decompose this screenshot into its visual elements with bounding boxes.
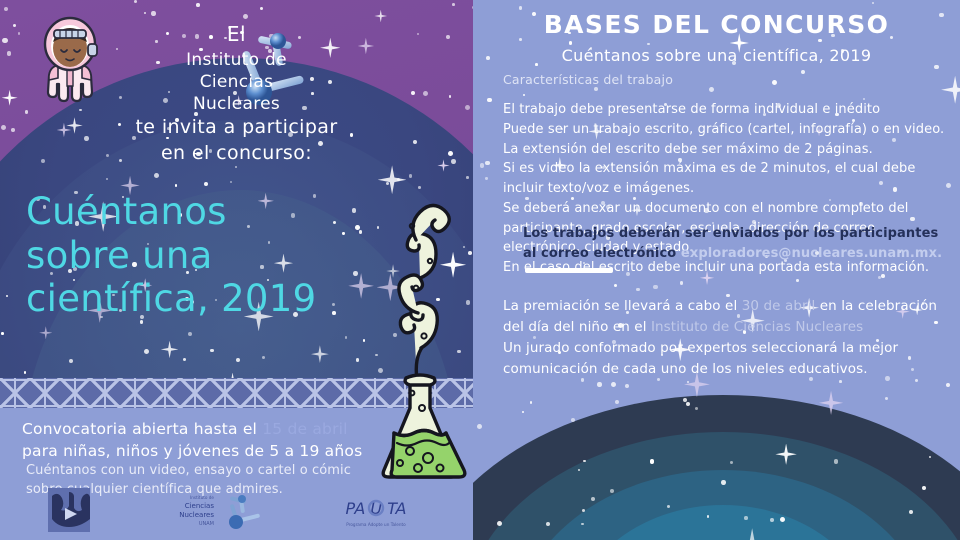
star-dot <box>4 7 8 11</box>
star-dot <box>614 284 618 288</box>
star-dot <box>485 177 487 179</box>
star-sparkle <box>374 10 387 23</box>
svg-text:Instituto de: Instituto de <box>190 495 214 500</box>
star-dot <box>144 349 149 354</box>
star-dot <box>591 497 595 501</box>
star-dot <box>834 459 838 463</box>
star-dot <box>594 87 598 91</box>
star-dot <box>707 515 709 517</box>
star-dot <box>134 0 137 3</box>
star-dot <box>582 509 585 512</box>
star-dot <box>929 456 931 458</box>
submission-instructions: Los trabajos deberán ser enviados por lo… <box>523 224 953 263</box>
star-dot <box>1 332 4 335</box>
star-dot <box>721 480 726 485</box>
award-institute: Instituto de Ciencias Nucleares <box>651 319 863 335</box>
star-dot <box>204 182 208 186</box>
pauta-logo: PA U TA Programa Adopte un Talento <box>330 492 422 532</box>
star-dot <box>615 400 619 404</box>
icn-logo: Instituto de Ciencias Nucleares UNAM <box>168 490 268 532</box>
star-dot <box>154 173 159 178</box>
poster-main-title: Cuéntanos sobre una científica, 2019 <box>26 190 366 321</box>
star-dot <box>151 11 155 15</box>
svg-text:Ciencias: Ciencias <box>185 502 215 510</box>
star-dot <box>915 379 918 382</box>
star-dot <box>477 424 482 429</box>
call-pre: Convocatoria abierta hasta el <box>22 420 262 438</box>
star-dot <box>522 411 524 413</box>
star-dot <box>480 163 484 167</box>
award-date: 30 de abril <box>742 298 816 314</box>
star-dot <box>946 383 950 387</box>
star-dot <box>487 98 492 103</box>
star-dot <box>183 358 186 361</box>
star-dot <box>452 3 455 6</box>
svg-text:UNAM: UNAM <box>199 521 214 527</box>
rule-item: La extensión del escrito debe ser máximo… <box>503 140 953 160</box>
award-information: La premiación se llevará a cabo el 30 de… <box>503 296 953 380</box>
star-dot <box>530 401 532 403</box>
rules-heading: BASES DEL CONCURSO <box>473 10 960 39</box>
rule-item: El trabajo debe presentarse de forma ind… <box>503 100 953 120</box>
star-dot <box>934 65 938 69</box>
star-dot <box>770 518 774 522</box>
star-dot <box>625 384 629 388</box>
svg-text:Nucleares: Nucleares <box>179 511 214 519</box>
award-paragraph: La premiación se llevará a cabo el 30 de… <box>503 296 953 338</box>
star-dot <box>519 6 523 10</box>
star-dot <box>243 14 248 19</box>
institute-name-text: Instituto de Ciencias Nucleares <box>0 50 473 115</box>
star-dot <box>744 516 748 520</box>
call-deadline: 15 de abril <box>262 420 347 438</box>
logo-row: Instituto de Ciencias Nucleares UNAM <box>0 486 473 534</box>
star-dot <box>24 371 27 374</box>
star-dot <box>611 382 616 387</box>
star-dot <box>260 7 263 10</box>
erlenmeyer-flask-illustration <box>360 168 473 498</box>
left-panel: El Instituto de Ciencias Nucleares te in… <box>0 0 473 540</box>
star-dot <box>188 332 192 336</box>
intro-el-text: El <box>0 22 473 46</box>
star-dot <box>485 161 489 165</box>
star-dot <box>687 381 689 383</box>
star-dot <box>872 2 874 4</box>
award-pre: La premiación se llevará a cabo el <box>503 298 742 314</box>
star-dot <box>175 184 177 186</box>
star-dot <box>210 349 214 353</box>
section-divider <box>525 268 613 273</box>
star-dot <box>885 397 889 401</box>
unam-logo <box>48 488 90 532</box>
star-dot <box>653 285 658 290</box>
star-dot <box>569 41 573 45</box>
star-dot <box>683 398 687 402</box>
star-dot <box>578 469 580 471</box>
call-for-entries-text: Convocatoria abierta hasta el 15 de abri… <box>22 418 372 462</box>
star-dot <box>597 382 601 386</box>
rule-item: Si es video la extensión máxima es de 2 … <box>503 159 953 199</box>
invitation-text: te invita a participar en el concurso: <box>0 115 473 166</box>
star-dot <box>144 12 147 15</box>
star-dot <box>581 523 584 526</box>
poster-canvas: El Instituto de Ciencias Nucleares te in… <box>0 0 960 540</box>
rules-section-label: Características del trabajo <box>503 72 943 87</box>
call-post: para niñas, niños y jóvenes de 5 a 19 añ… <box>22 442 362 460</box>
star-dot <box>636 288 639 291</box>
submission-email: exploradores@nucleares.unam.mx. <box>681 246 942 261</box>
star-dot <box>583 460 586 463</box>
star-dot <box>196 3 200 7</box>
star-dot <box>680 281 684 285</box>
star-dot <box>546 522 550 526</box>
star-dot <box>796 279 799 282</box>
star-dot <box>345 336 347 338</box>
star-dot <box>839 380 842 383</box>
jury-paragraph: Un jurado conformado por expertos selecc… <box>503 338 953 380</box>
svg-text:Programa Adopte un Talento: Programa Adopte un Talento <box>346 522 406 527</box>
star-dot <box>523 94 525 96</box>
star-dot <box>709 87 714 92</box>
rules-subheading: Cuéntanos sobre una científica, 2019 <box>473 46 960 65</box>
right-panel: BASES DEL CONCURSO Cuéntanos sobre una c… <box>473 0 960 540</box>
rule-item: Puede ser un trabajo escrito, gráfico (c… <box>503 120 953 140</box>
star-dot <box>818 39 822 43</box>
star-dot <box>647 43 649 45</box>
